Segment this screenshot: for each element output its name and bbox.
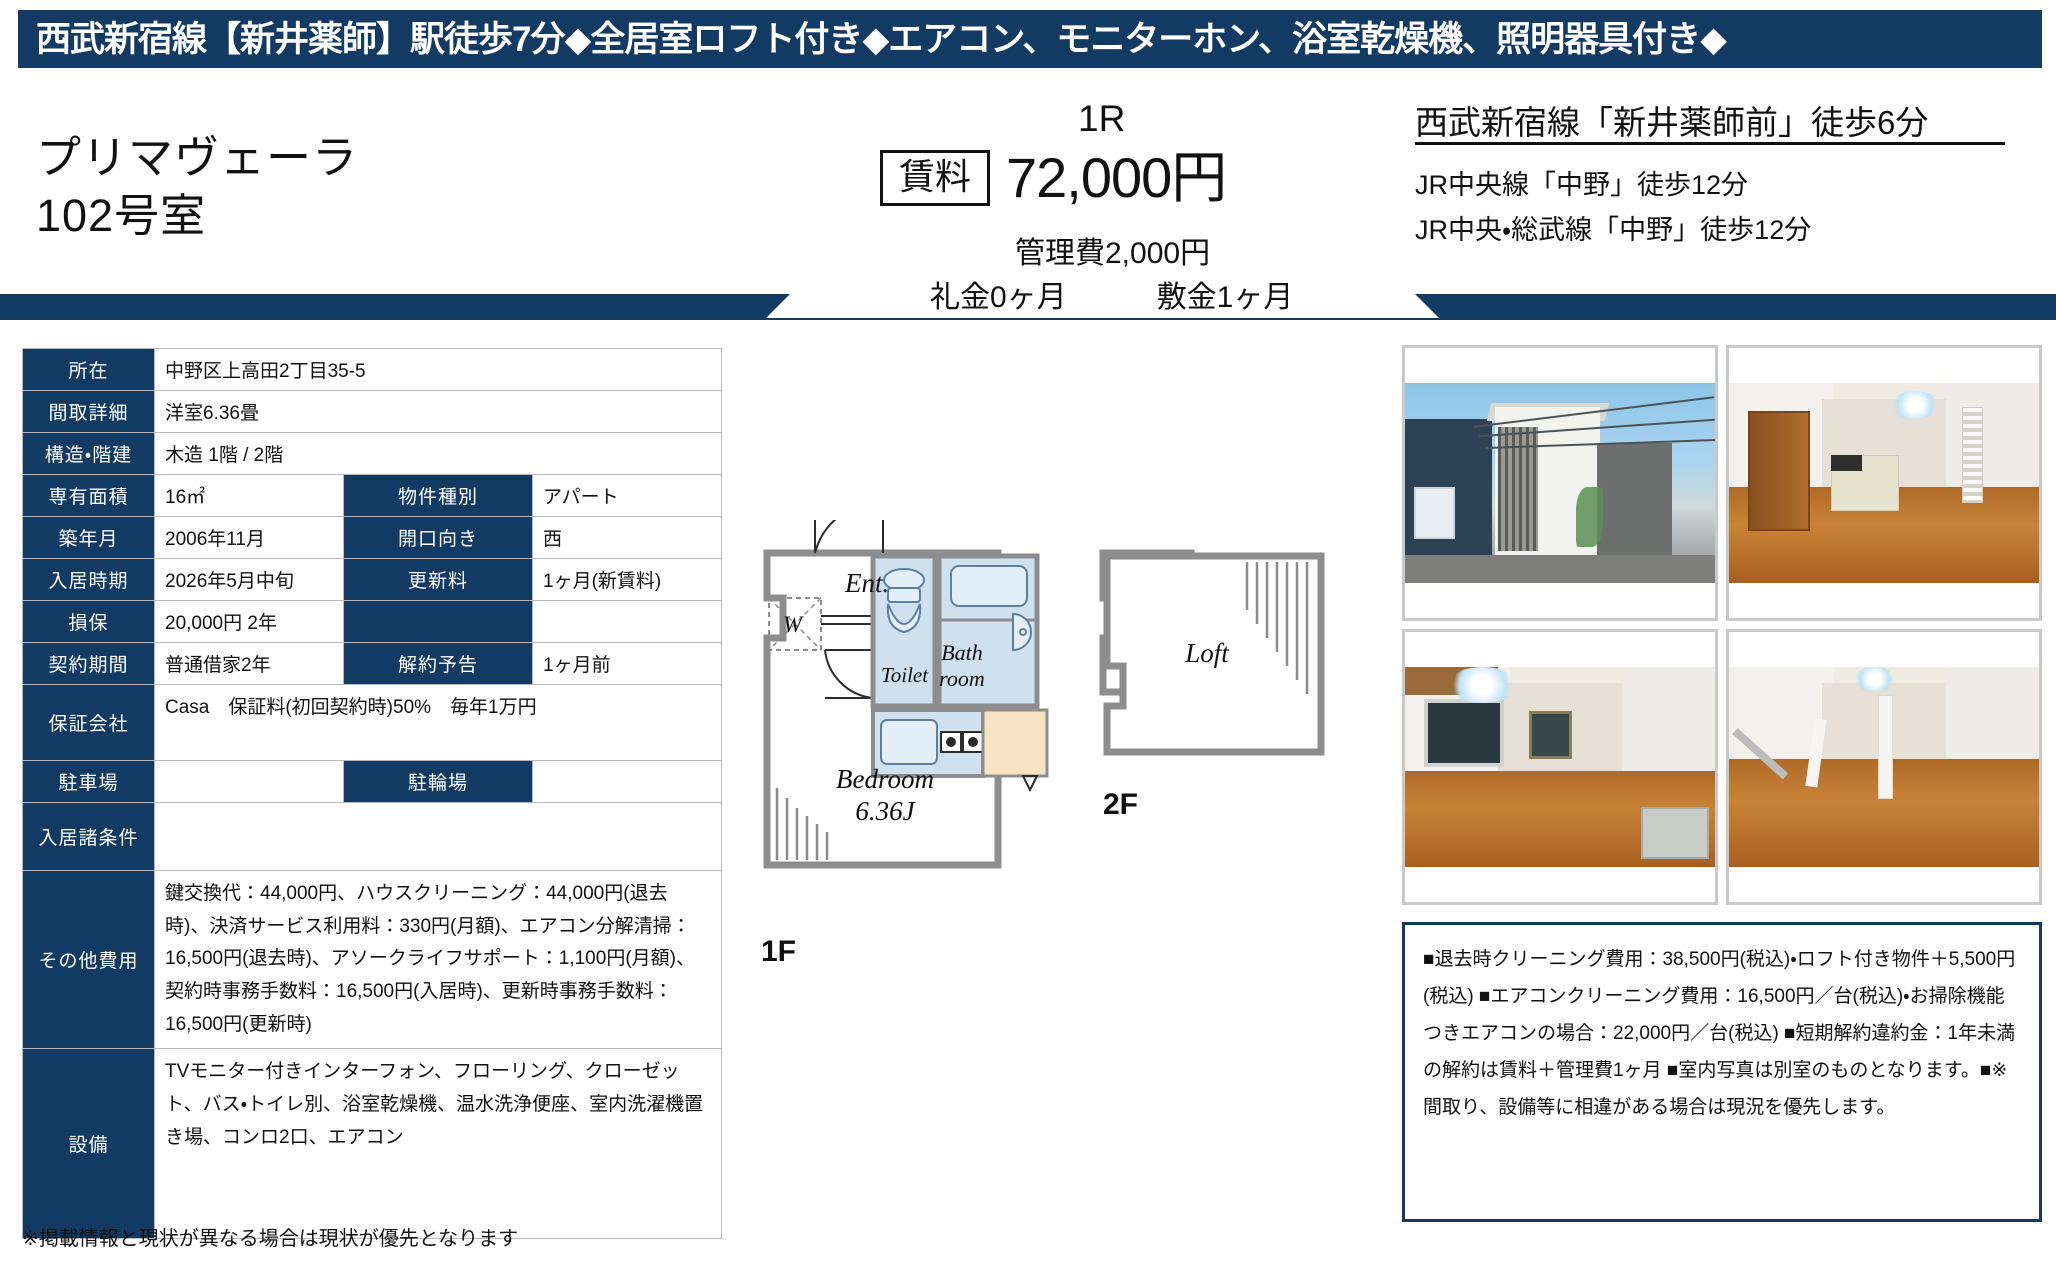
row-value: 木造 1階 / 2階 [155, 433, 722, 475]
headline-text: 西武新宿線【新井薬師】駅徒歩7分◆全居室ロフト付き◆エアコン、モニターホン、浴室… [18, 22, 1726, 57]
photo-grid [1402, 345, 2042, 905]
table-row: 契約期間 普通借家2年 解約予告 1ヶ月前 [23, 643, 722, 685]
layout-type: 1R [1078, 98, 1125, 140]
row-label: 保証会社 [23, 685, 155, 761]
other-cost-value: 鍵交換代：44,000円、ハウスクリーニング：44,000円(退去時)、決済サー… [165, 878, 711, 1041]
row-value-secondary: アパート [533, 475, 722, 517]
row-label-secondary: 解約予告 [344, 643, 533, 685]
photo-exterior-image [1405, 383, 1715, 583]
row-label-secondary: 開口向き [344, 517, 533, 559]
photo-exterior[interactable] [1402, 345, 1718, 621]
row-label-other-cost: その他費用 [23, 871, 155, 1049]
row-value-empty [533, 601, 722, 643]
row-label: 構造・階建 [23, 433, 155, 475]
header-divider [0, 288, 2056, 330]
row-value [155, 803, 722, 871]
row-label-secondary: 駐輪場 [344, 761, 533, 803]
row-label: 入居諸条件 [23, 803, 155, 871]
row-value: Casa 保証料(初回契約時)50% 毎年1万円 [155, 685, 722, 761]
rent-label: 賃料 [880, 150, 990, 206]
row-value: 2026年5月中旬 [155, 559, 344, 601]
row-label: 専有面積 [23, 475, 155, 517]
floor1-label: 1F [761, 935, 796, 969]
property-spec-table: 所在 中野区上高田2丁目35-5 間取詳細 洋室6.36畳 構造・階建 木造 1… [22, 348, 722, 1239]
row-value: 普通借家2年 [155, 643, 344, 685]
table-row: 専有面積 16㎡ 物件種別 アパート [23, 475, 722, 517]
divider-left-bar [0, 294, 790, 320]
photo-room-kitchen[interactable] [1726, 345, 2042, 621]
row-value: 2006年11月 [155, 517, 344, 559]
equipment-value: TVモニター付きインターフォン、フローリング、クローゼット、バス・トイレ別、浴室… [165, 1056, 711, 1154]
row-value [155, 761, 344, 803]
row-label: 契約期間 [23, 643, 155, 685]
row-label: 所在 [23, 349, 155, 391]
svg-text:Bedroom: Bedroom [836, 764, 934, 794]
row-value-secondary [533, 761, 722, 803]
table-row: 所在 中野区上高田2丁目35-5 [23, 349, 722, 391]
row-value: 20,000円 2年 [155, 601, 344, 643]
row-value-secondary: 1ヶ月前 [533, 643, 722, 685]
row-value: 中野区上高田2丁目35-5 [155, 349, 722, 391]
footer-disclaimer: ※掲載情報と現状が異なる場合は現状が優先となります [22, 1222, 518, 1251]
table-row: 保証会社 Casa 保証料(初回契約時)50% 毎年1万円 [23, 685, 722, 761]
floorplan-svg: Ent. W Toilet Bath room Bedroom 6.36J Lo… [755, 520, 1395, 1020]
listing-sheet: 西武新宿線【新井薬師】駅徒歩7分◆全居室ロフト付き◆エアコン、モニターホン、浴室… [0, 0, 2056, 1265]
photo-room-window[interactable] [1402, 629, 1718, 905]
row-label-secondary: 更新料 [344, 559, 533, 601]
room-number: 102号室 [36, 186, 206, 247]
photo-room-window-image [1405, 667, 1715, 867]
divider-right-bar [1415, 294, 2056, 320]
management-fee: 管理費2,000円 [1015, 228, 1210, 272]
row-value: 洋室6.36畳 [155, 391, 722, 433]
row-value-secondary: 1ヶ月(新賃料) [533, 559, 722, 601]
svg-text:Bath: Bath [941, 640, 983, 665]
table-row: 間取詳細 洋室6.36畳 [23, 391, 722, 433]
table-row: 損保 20,000円 2年 [23, 601, 722, 643]
notes-text: ■退去時クリーニング費用：38,500円(税込)・ロフト付き物件＋5,500円(… [1423, 941, 2021, 1126]
row-label-equipment: 設備 [23, 1049, 155, 1239]
table-row: その他費用 鍵交換代：44,000円、ハウスクリーニング：44,000円(退去時… [23, 871, 722, 1049]
divider-hairline [0, 318, 2056, 320]
table-row: 設備 TVモニター付きインターフォン、フローリング、クローゼット、バス・トイレ別… [23, 1049, 722, 1239]
table-row: 入居諸条件 [23, 803, 722, 871]
svg-text:6.36J: 6.36J [855, 796, 916, 826]
photo-room-kitchen-image [1729, 383, 2039, 583]
access-underline [1415, 142, 2005, 145]
photo-loft-image [1729, 667, 2039, 867]
rent-value: 72,000円 [1006, 150, 1226, 206]
svg-text:Toilet: Toilet [881, 663, 929, 687]
table-row: 築年月 2006年11月 開口向き 西 [23, 517, 722, 559]
svg-text:room: room [939, 666, 985, 691]
access-secondary-2: JR中央・総武線「中野」徒歩12分 [1415, 208, 1811, 247]
row-label: 築年月 [23, 517, 155, 559]
access-primary: 西武新宿線「新井薬師前」徒歩6分 [1415, 96, 1928, 144]
row-label: 間取詳細 [23, 391, 155, 433]
table-row: 駐車場 駐輪場 [23, 761, 722, 803]
row-value: 16㎡ [155, 475, 344, 517]
svg-text:W: W [783, 612, 804, 637]
floor2-label: 2F [1103, 788, 1138, 822]
property-name: プリマヴェーラ [36, 128, 358, 189]
row-label-empty [344, 601, 533, 643]
table-row: 入居時期 2026年5月中旬 更新料 1ヶ月(新賃料) [23, 559, 722, 601]
row-value-secondary: 西 [533, 517, 722, 559]
photo-loft[interactable] [1726, 629, 2042, 905]
row-label: 入居時期 [23, 559, 155, 601]
svg-text:Loft: Loft [1184, 638, 1230, 668]
rent-block: 賃料 72,000円 [880, 150, 1226, 206]
headline-banner: 西武新宿線【新井薬師】駅徒歩7分◆全居室ロフト付き◆エアコン、モニターホン、浴室… [18, 10, 2042, 68]
row-label: 損保 [23, 601, 155, 643]
access-secondary-1: JR中央線「中野」徒歩12分 [1415, 163, 1748, 202]
row-label: 駐車場 [23, 761, 155, 803]
row-label-secondary: 物件種別 [344, 475, 533, 517]
floorplan-area: Ent. W Toilet Bath room Bedroom 6.36J Lo… [755, 520, 1395, 1080]
svg-text:Ent.: Ent. [844, 568, 889, 598]
table-row: 構造・階建 木造 1階 / 2階 [23, 433, 722, 475]
notes-box: ■退去時クリーニング費用：38,500円(税込)・ロフト付き物件＋5,500円(… [1402, 922, 2042, 1222]
